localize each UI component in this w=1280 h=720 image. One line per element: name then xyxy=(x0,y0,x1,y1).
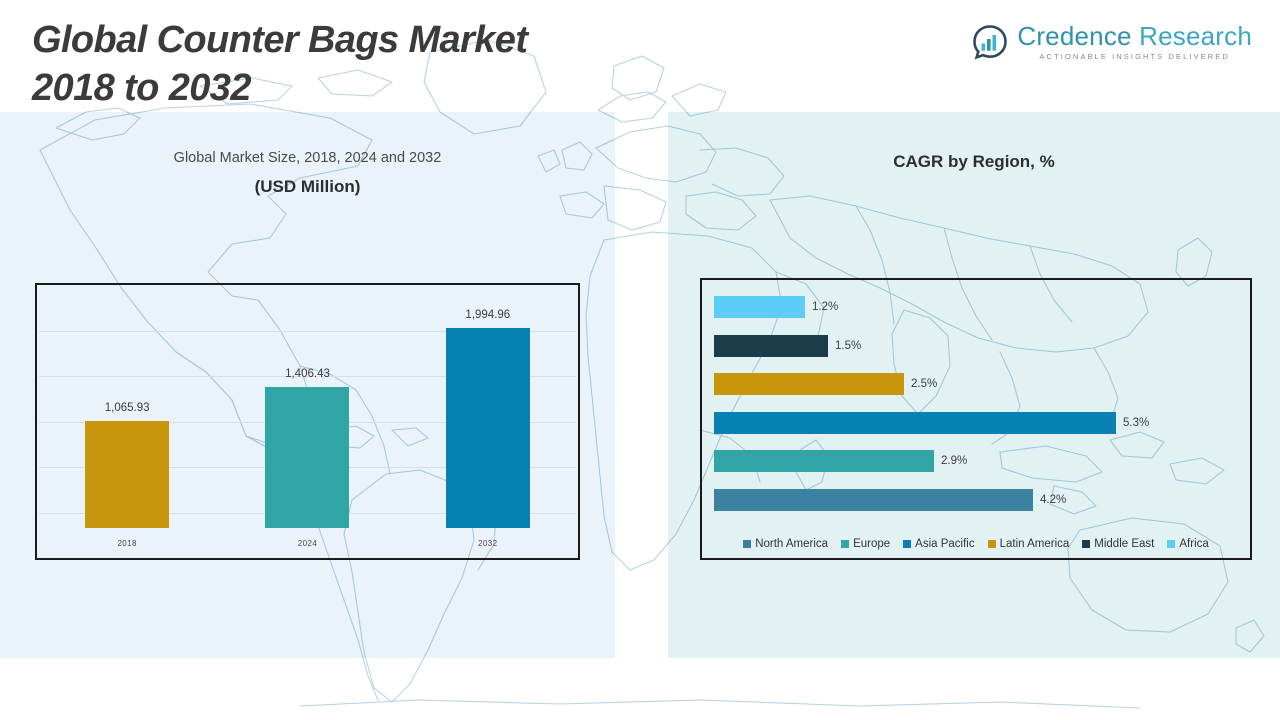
cagr-bar-row: 2.9% xyxy=(714,450,1244,472)
cagr-bar xyxy=(714,489,1033,511)
legend-item[interactable]: Europe xyxy=(841,538,890,550)
cagr-value-label: 2.5% xyxy=(911,378,937,390)
column-chart-x-axis: 201820242032 xyxy=(37,528,578,558)
legend-swatch xyxy=(841,540,849,548)
cagr-bar-row: 1.5% xyxy=(714,335,1244,357)
legend-label: Latin America xyxy=(1000,538,1070,550)
legend-swatch xyxy=(743,540,751,548)
brand-logo: Credence Research Actionable Insights De… xyxy=(972,22,1252,61)
cagr-value-label: 1.2% xyxy=(812,301,838,313)
legend-label: North America xyxy=(755,538,828,550)
legend-item[interactable]: Latin America xyxy=(988,538,1070,550)
cagr-bar xyxy=(714,335,828,357)
cagr-value-label: 1.5% xyxy=(835,340,861,352)
column-axis-label: 2024 xyxy=(217,539,397,548)
cagr-bar-row: 2.5% xyxy=(714,373,1244,395)
column-bar xyxy=(265,387,349,528)
legend-label: Africa xyxy=(1179,538,1208,550)
brand-name-primary: Credence xyxy=(1017,21,1131,51)
column-chart-item: 1,994.96 xyxy=(398,291,578,528)
cagr-bar-row: 1.2% xyxy=(714,296,1244,318)
legend-swatch xyxy=(1082,540,1090,548)
market-size-units: (USD Million) xyxy=(0,177,615,197)
cagr-legend: North AmericaEuropeAsia PacificLatin Ame… xyxy=(702,538,1250,550)
column-chart-item: 1,406.43 xyxy=(217,291,397,528)
brand-name: Credence Research xyxy=(1017,22,1252,50)
cagr-by-region-bar-chart: 1.2%1.5%2.5%5.3%2.9%4.2% North AmericaEu… xyxy=(700,278,1252,560)
column-axis-label: 2018 xyxy=(37,539,217,548)
legend-item[interactable]: Middle East xyxy=(1082,538,1154,550)
legend-label: Middle East xyxy=(1094,538,1154,550)
legend-item[interactable]: Asia Pacific xyxy=(903,538,974,550)
legend-label: Asia Pacific xyxy=(915,538,974,550)
cagr-value-label: 4.2% xyxy=(1040,494,1066,506)
cagr-bar xyxy=(714,450,934,472)
cagr-bar xyxy=(714,296,805,318)
legend-swatch xyxy=(1167,540,1175,548)
column-value-label: 1,065.93 xyxy=(105,402,150,414)
column-value-label: 1,994.96 xyxy=(465,309,510,321)
cagr-bar xyxy=(714,412,1116,434)
cagr-bar-row: 4.2% xyxy=(714,489,1244,511)
header: Global Counter Bags Market 2018 to 2032 … xyxy=(0,0,1280,112)
brand-name-secondary: Research xyxy=(1132,21,1252,51)
legend-swatch xyxy=(903,540,911,548)
page-title: Global Counter Bags Market 2018 to 2032 xyxy=(32,16,672,112)
cagr-bar-row: 5.3% xyxy=(714,412,1244,434)
column-bar xyxy=(446,328,530,528)
legend-swatch xyxy=(988,540,996,548)
column-value-label: 1,406.43 xyxy=(285,368,330,380)
cagr-bar xyxy=(714,373,904,395)
legend-label: Europe xyxy=(853,538,890,550)
legend-item[interactable]: North America xyxy=(743,538,828,550)
column-axis-label: 2032 xyxy=(398,539,578,548)
column-chart-item: 1,065.93 xyxy=(37,291,217,528)
column-chart-plot-area: 1,065.931,406.431,994.96 201820242032 xyxy=(37,285,578,558)
cagr-bars: 1.2%1.5%2.5%5.3%2.9%4.2% xyxy=(714,296,1244,511)
cagr-value-label: 2.9% xyxy=(941,455,967,467)
column-bar xyxy=(85,421,169,528)
cagr-chart-title: CAGR by Region, % xyxy=(668,152,1280,172)
market-size-subtitle: Global Market Size, 2018, 2024 and 2032 xyxy=(0,150,615,166)
legend-item[interactable]: Africa xyxy=(1167,538,1208,550)
bubble-bar-chart-icon xyxy=(972,24,1008,60)
brand-tagline: Actionable Insights Delivered xyxy=(1017,52,1252,61)
cagr-value-label: 5.3% xyxy=(1123,417,1149,429)
market-size-column-chart: 1,065.931,406.431,994.96 201820242032 xyxy=(35,283,580,560)
column-chart-bars: 1,065.931,406.431,994.96 xyxy=(37,291,578,528)
